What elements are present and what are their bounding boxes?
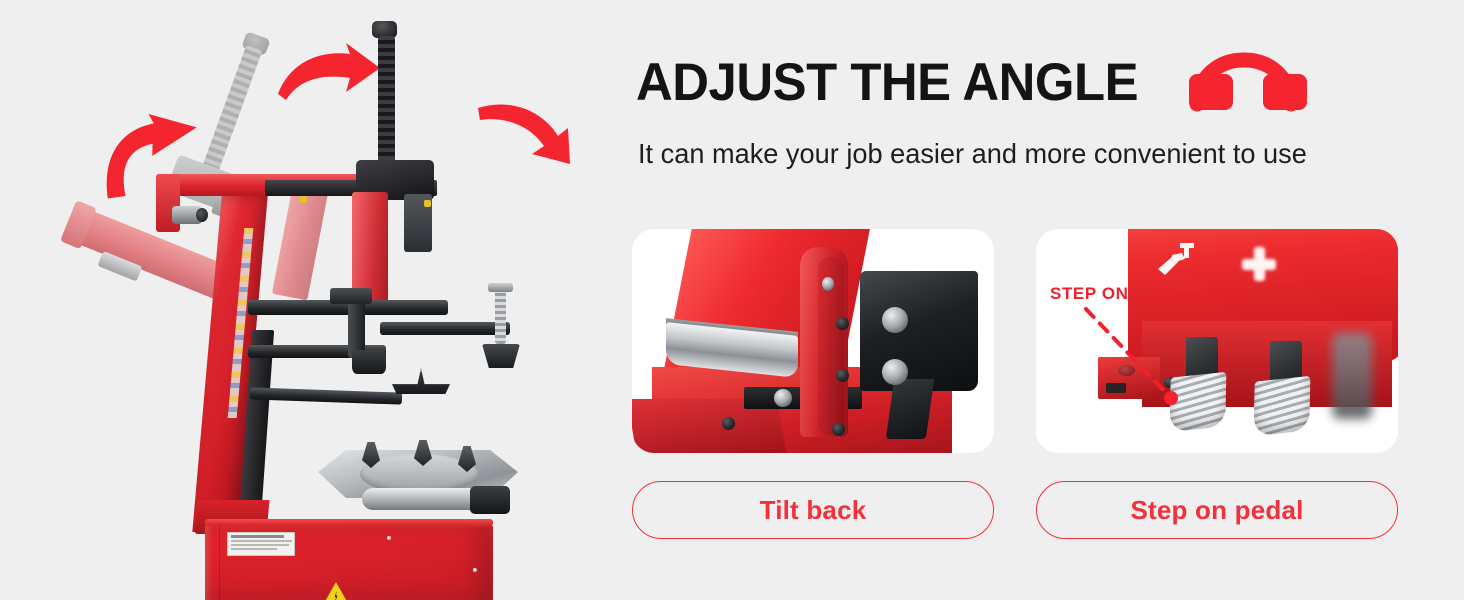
screw-rod bbox=[495, 290, 506, 344]
step-on-pedal-button[interactable]: Step on pedal bbox=[1036, 481, 1398, 539]
hex-nut bbox=[832, 423, 845, 436]
bead-breaker-roller bbox=[352, 350, 386, 374]
bead-breaker-clamp bbox=[330, 288, 372, 304]
turntable-shaft bbox=[362, 488, 482, 510]
bead-breaker-shoe bbox=[482, 344, 520, 368]
hex-nut bbox=[836, 369, 849, 382]
pedal-pad bbox=[1254, 376, 1311, 436]
black-bracket-leg bbox=[886, 379, 934, 439]
content-pane: ADJUST THE ANGLE It can make your job ea… bbox=[620, 0, 1464, 600]
blurred-foreground-object bbox=[1332, 333, 1372, 419]
tilt-back-button[interactable]: Tilt back bbox=[632, 481, 994, 539]
upright-sub-column bbox=[352, 192, 388, 302]
tilted-sub-column bbox=[272, 186, 328, 301]
step-on-annotation: STEP ON bbox=[1050, 284, 1129, 304]
warning-triangle-icon bbox=[323, 582, 349, 600]
yellow-bolt bbox=[424, 200, 431, 207]
hex-shaft bbox=[201, 45, 262, 175]
bracket-bolt bbox=[882, 307, 908, 333]
page-subtitle: It can make your job easier and more con… bbox=[638, 138, 1307, 170]
feature-buttons: Tilt back Step on pedal bbox=[632, 481, 1400, 539]
mount-head-tool-decal-icon bbox=[1154, 241, 1198, 279]
cabinet-screw bbox=[473, 568, 477, 572]
bead-breaker-extension bbox=[380, 322, 510, 335]
pivot-pin bbox=[822, 277, 834, 291]
plus-decal-icon bbox=[1242, 247, 1276, 281]
four-jaw-turntable bbox=[318, 440, 518, 514]
bead-breaker-arm-lower bbox=[250, 387, 402, 404]
pry-tool bbox=[392, 368, 450, 394]
headline-row: ADJUST THE ANGLE bbox=[636, 52, 1311, 112]
pedals-photo-card: STEP ON bbox=[1036, 229, 1398, 453]
promo-banner: ADJUST THE ANGLE It can make your job ea… bbox=[0, 0, 1464, 600]
product-photo-pane bbox=[0, 0, 620, 600]
page-title: ADJUST THE ANGLE bbox=[636, 56, 1138, 109]
hex-nut bbox=[722, 417, 735, 430]
black-bracket bbox=[860, 271, 978, 391]
hex-nut bbox=[836, 317, 849, 330]
double-headed-rotation-arrow-icon bbox=[1177, 52, 1311, 112]
bracket-bolt bbox=[882, 359, 908, 385]
dashed-pointer-line bbox=[1084, 307, 1180, 403]
turntable-motor bbox=[470, 486, 510, 514]
pointer-target-dot bbox=[1164, 391, 1178, 405]
base-bolt bbox=[774, 389, 792, 407]
tire-changer-machine bbox=[0, 0, 620, 600]
feature-cards: STEP ON bbox=[632, 229, 1400, 453]
hex-shaft bbox=[378, 36, 395, 164]
right-pedal[interactable] bbox=[1254, 341, 1312, 433]
cabinet-seam bbox=[219, 524, 220, 600]
specification-label bbox=[227, 532, 295, 556]
arm-pivot-hub bbox=[172, 206, 202, 224]
cabinet-screw bbox=[387, 536, 391, 540]
red-cabinet-base bbox=[205, 524, 493, 600]
tilt-mechanism-photo-card bbox=[632, 229, 994, 453]
yellow-bolt bbox=[300, 196, 307, 203]
